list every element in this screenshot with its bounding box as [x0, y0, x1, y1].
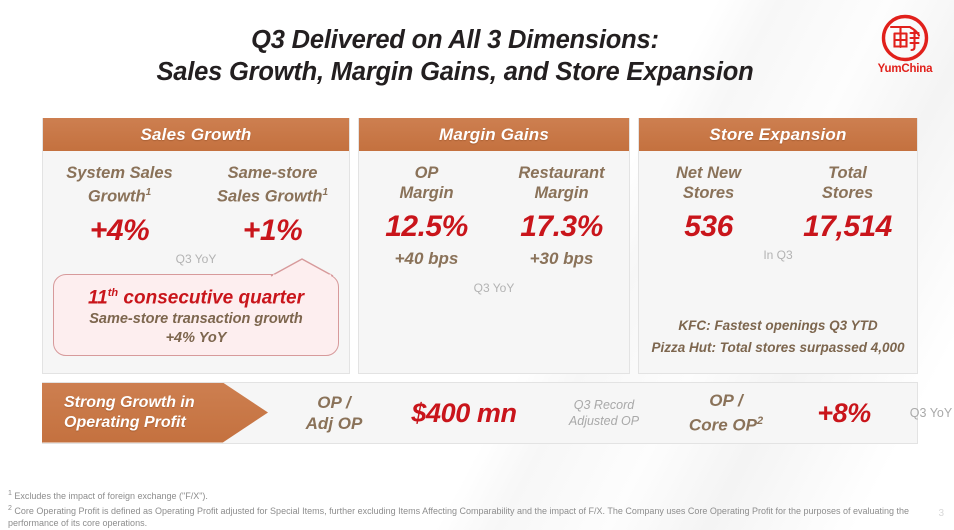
panel-header-sales-growth: Sales Growth — [43, 118, 349, 151]
metric-sub: +40 bps — [359, 248, 494, 269]
metric-label: Restaurant Margin — [494, 163, 629, 203]
panel-note-store-expansion: In Q3 — [639, 248, 917, 262]
callout-title: 11th consecutive quarter — [60, 282, 332, 309]
footnote-1: 1 Excludes the impact of foreign exchang… — [8, 488, 938, 503]
callout-line-3: +4% YoY — [60, 329, 332, 347]
arrow-banner-label: Strong Growth in Operating Profit — [64, 393, 195, 433]
metric-op-margin: OP Margin 12.5% +40 bps — [359, 163, 494, 269]
metric-label: System Sales Growth1 — [43, 163, 196, 207]
metric-row: System Sales Growth1 +4% Same-store Sale… — [43, 163, 349, 248]
bar-value-adjusted-op: $400 mn — [380, 398, 548, 429]
panel-sales-growth: Sales Growth System Sales Growth1 +4% Sa… — [42, 118, 350, 374]
panel-header-store-expansion: Store Expansion — [639, 118, 917, 151]
metric-sub: +30 bps — [494, 248, 629, 269]
panel-body-store-expansion: Net New Stores 536 Total Stores 17,514 I… — [639, 151, 917, 373]
callout-line-2: Same-store transaction growth — [60, 310, 332, 328]
metric-same-store-sales-growth: Same-store Sales Growth1 +1% — [196, 163, 349, 248]
metric-label: OP Margin — [359, 163, 494, 203]
panel-margin-gains: Margin Gains OP Margin 12.5% +40 bps Res… — [358, 118, 630, 374]
bar-caption-op-adj-op: OP / Adj OP — [288, 392, 380, 434]
page-number: 3 — [938, 508, 944, 519]
metric-label: Total Stores — [778, 163, 917, 203]
metric-restaurant-margin: Restaurant Margin 17.3% +30 bps — [494, 163, 629, 269]
operating-profit-items: OP / Adj OP $400 mn Q3 Record Adjusted O… — [268, 383, 954, 443]
footnote-2: 2 Core Operating Profit is defined as Op… — [8, 503, 938, 530]
store-note-kfc: KFC: Fastest openings Q3 YTD — [645, 315, 911, 337]
footnote-marker: 1 — [322, 187, 328, 198]
brand-logo: YumChina — [868, 14, 942, 75]
metric-row: OP Margin 12.5% +40 bps Restaurant Margi… — [359, 163, 629, 269]
bar-caption-op-core-op: OP / Core OP2 — [660, 390, 792, 436]
footnote-marker: 2 — [757, 415, 763, 427]
panel-note-margin-gains: Q3 YoY — [359, 281, 629, 295]
metric-value: +1% — [196, 214, 349, 248]
metric-net-new-stores: Net New Stores 536 — [639, 163, 778, 244]
metric-row: Net New Stores 536 Total Stores 17,514 — [639, 163, 917, 244]
metric-label: Net New Stores — [639, 163, 778, 203]
metric-value: 12.5% — [359, 210, 494, 244]
title-line-1: Q3 Delivered on All 3 Dimensions: — [70, 24, 840, 56]
bar-note-q3-yoy: Q3 YoY — [896, 405, 954, 421]
arrow-banner-operating-profit: Strong Growth in Operating Profit — [42, 383, 268, 443]
title-line-2: Sales Growth, Margin Gains, and Store Ex… — [70, 56, 840, 88]
panel-store-expansion: Store Expansion Net New Stores 536 Total… — [638, 118, 918, 374]
metric-panels: Sales Growth System Sales Growth1 +4% Sa… — [42, 118, 918, 374]
metric-value: 536 — [639, 210, 778, 244]
panel-body-sales-growth: System Sales Growth1 +4% Same-store Sale… — [43, 151, 349, 373]
metric-value: 17.3% — [494, 210, 629, 244]
store-note-pizza-hut: Pizza Hut: Total stores surpassed 4,000 — [645, 337, 911, 359]
slide: Q3 Delivered on All 3 Dimensions: Sales … — [0, 0, 954, 530]
yum-china-seal-icon — [881, 14, 929, 62]
footnote-marker: 1 — [146, 187, 152, 198]
logo-wordmark: YumChina — [868, 63, 942, 75]
store-expansion-notes: KFC: Fastest openings Q3 YTD Pizza Hut: … — [645, 315, 911, 359]
panel-body-margin-gains: OP Margin 12.5% +40 bps Restaurant Margi… — [359, 151, 629, 373]
metric-system-sales-growth: System Sales Growth1 +4% — [43, 163, 196, 248]
metric-label: Same-store Sales Growth1 — [196, 163, 349, 207]
operating-profit-bar: Strong Growth in Operating Profit OP / A… — [42, 382, 918, 444]
bar-note-q3-record: Q3 Record Adjusted OP — [548, 397, 660, 429]
page-title: Q3 Delivered on All 3 Dimensions: Sales … — [70, 24, 840, 88]
footnotes: 1 Excludes the impact of foreign exchang… — [8, 488, 938, 530]
callout-consecutive-quarter: 11th consecutive quarter Same-store tran… — [53, 274, 339, 356]
metric-value: +4% — [43, 214, 196, 248]
metric-value: 17,514 — [778, 210, 917, 244]
metric-total-stores: Total Stores 17,514 — [778, 163, 917, 244]
bar-value-core-op-growth: +8% — [792, 398, 896, 429]
panel-header-margin-gains: Margin Gains — [359, 118, 629, 151]
